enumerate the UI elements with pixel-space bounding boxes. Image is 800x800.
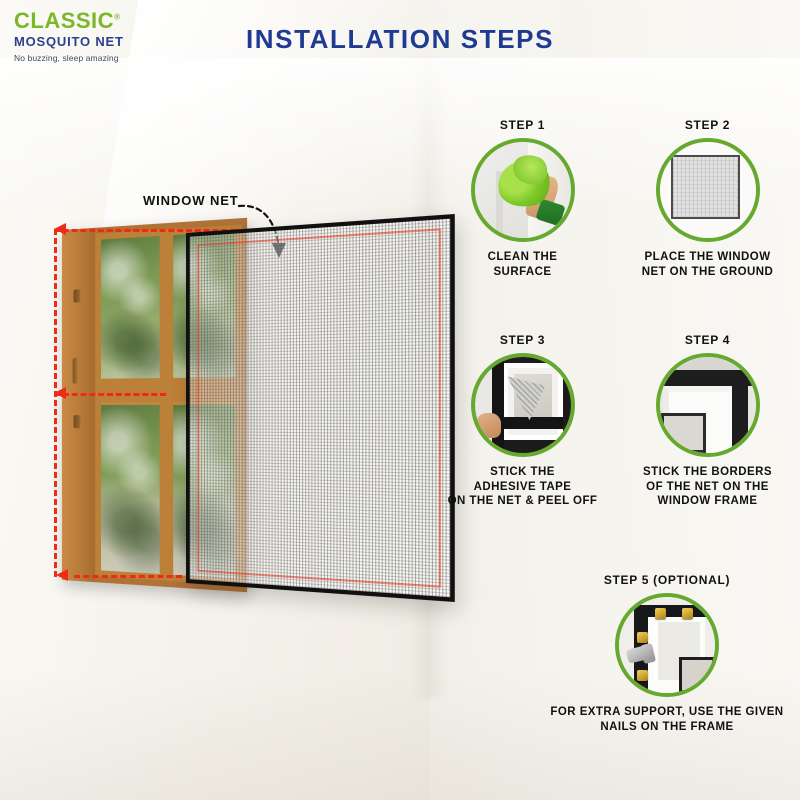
step-image-stick-adhesive-tape <box>471 353 575 457</box>
wall-edge <box>475 357 493 453</box>
step-caption: STICK THE ADHESIVE TAPE ON THE NET & PEE… <box>440 465 605 509</box>
net-border-horizontal <box>492 417 563 429</box>
step-caption: PLACE THE WINDOW NET ON THE GROUND <box>625 250 790 279</box>
step-image-place-net-on-ground <box>656 138 760 242</box>
step-title: STEP 3 <box>440 333 605 347</box>
net-border-right <box>732 370 747 453</box>
header: CLASSIC® MOSQUITO NET No buzzing, sleep … <box>0 0 800 80</box>
step-caption: CLEAN THE SURFACE <box>440 250 605 279</box>
step-caption-line: PLACE THE WINDOW <box>625 250 790 265</box>
window-net-illustration: WINDOW NET <box>40 195 440 615</box>
brass-nail-icon <box>655 608 666 619</box>
registered-trademark-icon: ® <box>114 13 120 22</box>
step-caption-line: CLEAN THE <box>440 250 605 265</box>
page-title: INSTALLATION STEPS <box>0 24 800 55</box>
step-image-stick-borders-on-frame <box>656 353 760 457</box>
step-image-clean-the-surface <box>471 138 575 242</box>
wall-shade <box>660 357 756 370</box>
net-adhesive-border <box>197 228 441 588</box>
hand-icon <box>476 413 501 438</box>
net-border-vertical <box>492 357 504 453</box>
step-caption-line: STICK THE BORDERS <box>625 465 790 480</box>
installation-steps-grid: STEP 1 CLEAN THE SURFACE STEP 2 PLACE TH… <box>440 118 790 778</box>
mosquito-net-panel <box>186 214 455 602</box>
step-caption-line: OF THE NET ON THE <box>625 480 790 495</box>
window-glass-panel <box>679 657 715 693</box>
step-card-3[interactable]: STEP 3 STICK THE ADHESIVE TAPE ON THE NE… <box>440 333 605 509</box>
step-title: STEP 2 <box>625 118 790 132</box>
step-title: STEP 1 <box>440 118 605 132</box>
brass-nail-icon <box>637 632 648 643</box>
step-title: STEP 5 (OPTIONAL) <box>532 573 800 587</box>
step-caption-line: FOR EXTRA SUPPORT, USE THE GIVEN <box>532 705 800 720</box>
step-image-use-nails-on-frame <box>615 593 719 697</box>
brass-nail-icon <box>682 608 693 619</box>
step-caption-line: SURFACE <box>440 265 605 280</box>
mesh-net-square-icon <box>671 155 740 218</box>
step-caption-line: ON THE NET & PEEL OFF <box>440 494 605 509</box>
window-glass-panel <box>661 413 705 453</box>
step-title: STEP 4 <box>625 333 790 347</box>
step-caption: STICK THE BORDERS OF THE NET ON THE WIND… <box>625 465 790 509</box>
step-card-1[interactable]: STEP 1 CLEAN THE SURFACE <box>440 118 605 279</box>
step-caption: FOR EXTRA SUPPORT, USE THE GIVEN NAILS O… <box>532 705 800 734</box>
step-caption-line: NAILS ON THE FRAME <box>532 720 800 735</box>
step-caption-line: NET ON THE GROUND <box>625 265 790 280</box>
step-card-5[interactable]: STEP 5 (OPTIONAL) FOR EXTRA SUPPORT, USE… <box>532 573 800 734</box>
step-caption-line: ADHESIVE TAPE <box>440 480 605 495</box>
step-caption-line: STICK THE <box>440 465 605 480</box>
step-caption-line: WINDOW FRAME <box>625 494 790 509</box>
step-card-2[interactable]: STEP 2 PLACE THE WINDOW NET ON THE GROUN… <box>625 118 790 279</box>
step-card-4[interactable]: STEP 4 STICK THE BORDERS OF THE NET ON T… <box>625 333 790 509</box>
window-net-label: WINDOW NET <box>143 193 239 208</box>
brass-nail-icon <box>637 670 648 681</box>
